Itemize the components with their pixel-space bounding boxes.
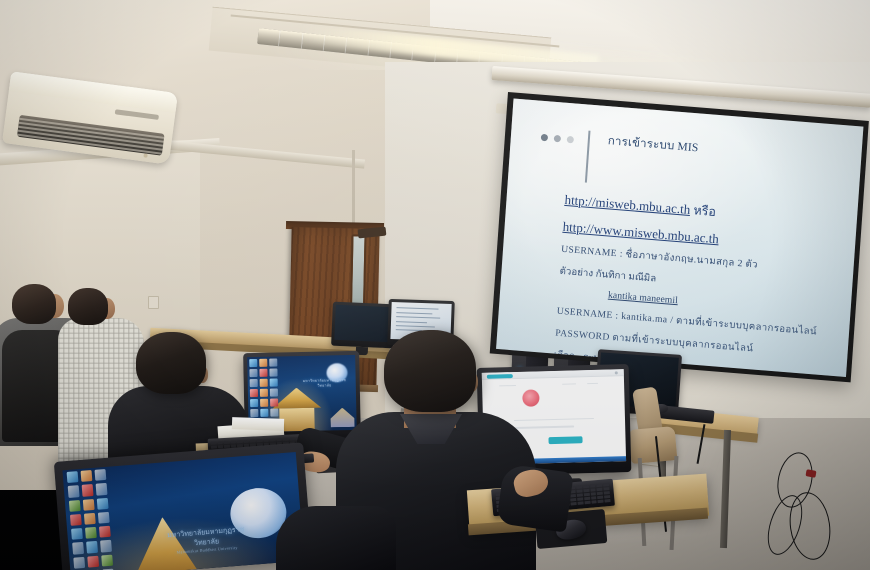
person-suit-head [384, 330, 476, 412]
door-vision-panel [350, 234, 367, 312]
browser-tab[interactable] [487, 374, 513, 379]
chair-seat [629, 426, 678, 464]
submit-button[interactable] [549, 436, 583, 444]
back-monitor-1 [331, 302, 395, 349]
projection-screen-surface: การเข้าระบบ MIS http://misweb.mbu.ac.th … [496, 98, 863, 377]
site-logo [522, 390, 539, 407]
person-checkered-shirt-head [68, 288, 108, 325]
wall-switch[interactable] [148, 296, 159, 309]
wallpaper-title: มหาวิทยาลัยมหามกุฏราชวิทยาลัย [297, 377, 351, 389]
cable-tie [805, 469, 816, 478]
projection-screen: การเข้าระบบ MIS http://misweb.mbu.ac.th … [490, 92, 869, 382]
big-desktop-wallpaper: มหาวิทยาลัยมหามกุฏราชวิทยาลัย Mahamakut … [62, 452, 304, 570]
desktop-icons[interactable] [249, 358, 278, 417]
big-desktop-icons[interactable] [66, 469, 114, 570]
big-desktop-monitor: มหาวิทยาลัยมหามกุฏราชวิทยาลัย Mahamakut … [54, 442, 312, 570]
person-black-jacket-head [136, 332, 206, 394]
training-room-scene: การเข้าระบบ MIS http://misweb.mbu.ac.th … [0, 0, 870, 570]
desk-papers-2 [232, 417, 284, 431]
person-grey-vest-head [12, 284, 56, 324]
person-bottom-shoulder [276, 506, 396, 570]
browser-menu-icon[interactable] [615, 371, 618, 374]
